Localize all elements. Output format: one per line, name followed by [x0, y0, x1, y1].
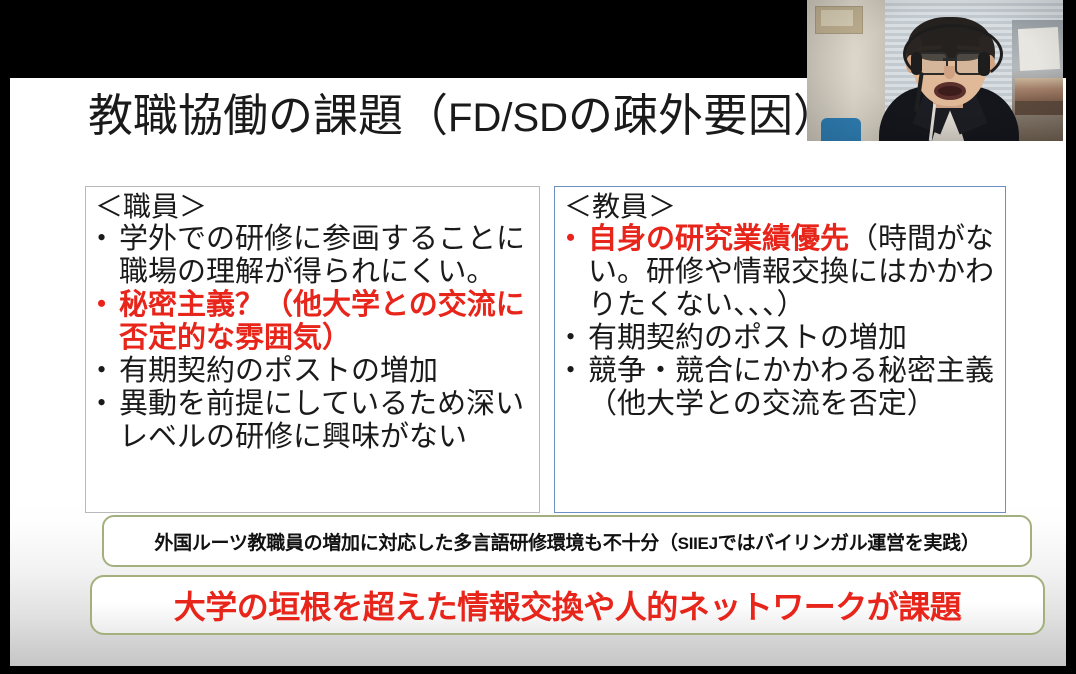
page-title-part-tail: の疎外要因）	[568, 91, 838, 141]
list-item: 有期契約のポストの増加	[561, 322, 1001, 355]
callout-multilingual-acronym: SIIEJ	[678, 534, 718, 553]
callout-conclusion-text: 大学の垣根を超えた情報交換や人的ネットワークが課題	[174, 582, 962, 628]
panel-faculty-heading: ＜教員＞	[555, 187, 1005, 223]
callout-multilingual: 外国ルーツ教職員の増加に対応した多言語研修環境も不十分（SIIEJではバイリンガ…	[102, 515, 1032, 567]
list-item: 有期契約のポストの増加	[92, 355, 535, 388]
callout-multilingual-text: 外国ルーツ教職員の増加に対応した多言語研修環境も不十分（SIIEJではバイリンガ…	[154, 528, 979, 555]
list-item-emphasis: 自身の研究業績優先（時間がない。研修や情報交換にはかかわりたくない、、、）	[561, 223, 1001, 322]
panel-staff-heading: ＜職員＞	[86, 187, 539, 223]
presentation-slide: 教職協働の課題（FD/SDの疎外要因） ＜職員＞ 学外での研修に参画することに職…	[10, 78, 1066, 666]
page-title-part-lead: 教職協働の課題（	[88, 91, 448, 141]
list-item-emphasis-lead: 自身の研究業績優先	[588, 223, 849, 255]
list-item: 異動を前提にしているため深いレベルの研修に興味がない	[92, 388, 535, 454]
list-item-emphasis: 秘密主義？（他大学との交流に否定的な雰囲気）	[92, 289, 535, 355]
page-title: 教職協働の課題（FD/SDの疎外要因）	[88, 94, 838, 139]
callout-conclusion: 大学の垣根を超えた情報交換や人的ネットワークが課題	[90, 575, 1045, 635]
video-vignette	[807, 0, 1063, 141]
callout-multilingual-tail: ではバイリンガル運営を実践）	[718, 533, 980, 554]
list-item: 学外での研修に参画することに職場の理解が得られにくい。	[92, 223, 535, 289]
panel-faculty-bullet-list: 自身の研究業績優先（時間がない。研修や情報交換にはかかわりたくない、、、） 有期…	[555, 223, 1005, 420]
panel-staff-bullet-list: 学外での研修に参画することに職場の理解が得られにくい。 秘密主義？（他大学との交…	[86, 223, 539, 453]
panel-faculty: ＜教員＞ 自身の研究業績優先（時間がない。研修や情報交換にはかかわりたくない、、…	[554, 186, 1006, 513]
list-item: 競争・競合にかかわる秘密主義（他大学との交流を否定）	[561, 355, 1001, 421]
page-title-part-latin: FD/SD	[448, 96, 568, 140]
callout-multilingual-lead: 外国ルーツ教職員の増加に対応した多言語研修環境も不十分（	[154, 533, 677, 554]
screen-share-viewport: 教職協働の課題（FD/SDの疎外要因） ＜職員＞ 学外での研修に参画することに職…	[0, 0, 1076, 674]
panel-staff: ＜職員＞ 学外での研修に参画することに職場の理解が得られにくい。 秘密主義？（他…	[85, 186, 540, 513]
presenter-video-thumbnail[interactable]	[807, 0, 1063, 141]
